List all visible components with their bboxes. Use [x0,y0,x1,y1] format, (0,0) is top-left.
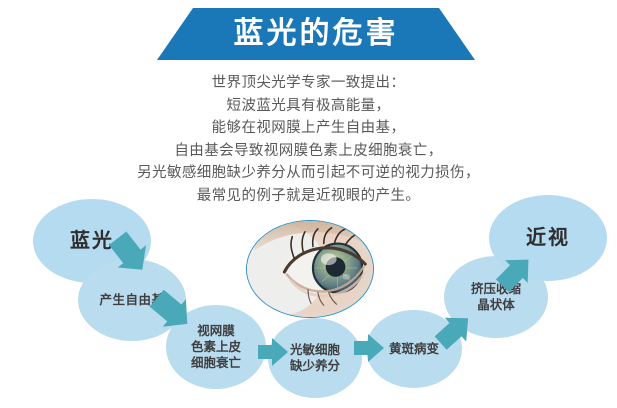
intro-line-4: 自由基会导致视网膜色素上皮细胞衰亡， [0,140,617,163]
flow-step-myopia-label: 近视 [526,225,570,251]
intro-paragraph: 世界顶尖光学专家一致提出： 短波蓝光具有极高能量， 能够在视网膜上产生自由基， … [0,72,617,207]
flow-step-photoreceptor-line-2: 缺少养分 [290,358,340,374]
flow-step-myopia: 近视 [489,195,607,281]
intro-line-1: 世界顶尖光学专家一致提出： [0,72,617,95]
intro-line-2: 短波蓝光具有极高能量， [0,95,617,118]
eye-illustration [247,221,373,317]
intro-line-3: 能够在视网膜上产生自由基， [0,117,617,140]
flow-step-rpe-line-1: 视网膜 [191,323,241,339]
flow-step-macular-label: 黄斑病变 [389,341,439,357]
flow-step-macular-degeneration: 黄斑病变 [366,310,462,388]
flow-step-rpe-line-2: 色素上皮 [191,339,241,355]
flow-step-free-radicals-label: 产生自由基 [99,292,164,308]
flow-step-photoreceptor-line-1: 光敏细胞 [290,342,340,358]
intro-line-5: 另光敏感细胞缺少养分从而引起不可逆的视力损伤， [0,162,617,185]
flow-step-rpe-line-3: 细胞衰亡 [191,355,241,371]
title-banner: 蓝光的危害 [157,8,475,60]
flow-step-lens-line-2: 晶状体 [471,297,521,313]
flow-step-blue-light-label: 蓝光 [70,228,114,254]
flow-step-lens-line-1: 挤压收缩 [471,281,521,297]
human-eye-photo [246,220,374,318]
page-title: 蓝光的危害 [157,8,475,60]
flow-step-photoreceptor-malnutrition: 光敏细胞 缺少养分 [268,318,362,398]
flow-step-rpe-cell-death: 视网膜 色素上皮 细胞衰亡 [166,305,266,389]
poster-canvas: 蓝光的危害 世界顶尖光学专家一致提出： 短波蓝光具有极高能量， 能够在视网膜上产… [0,0,617,408]
